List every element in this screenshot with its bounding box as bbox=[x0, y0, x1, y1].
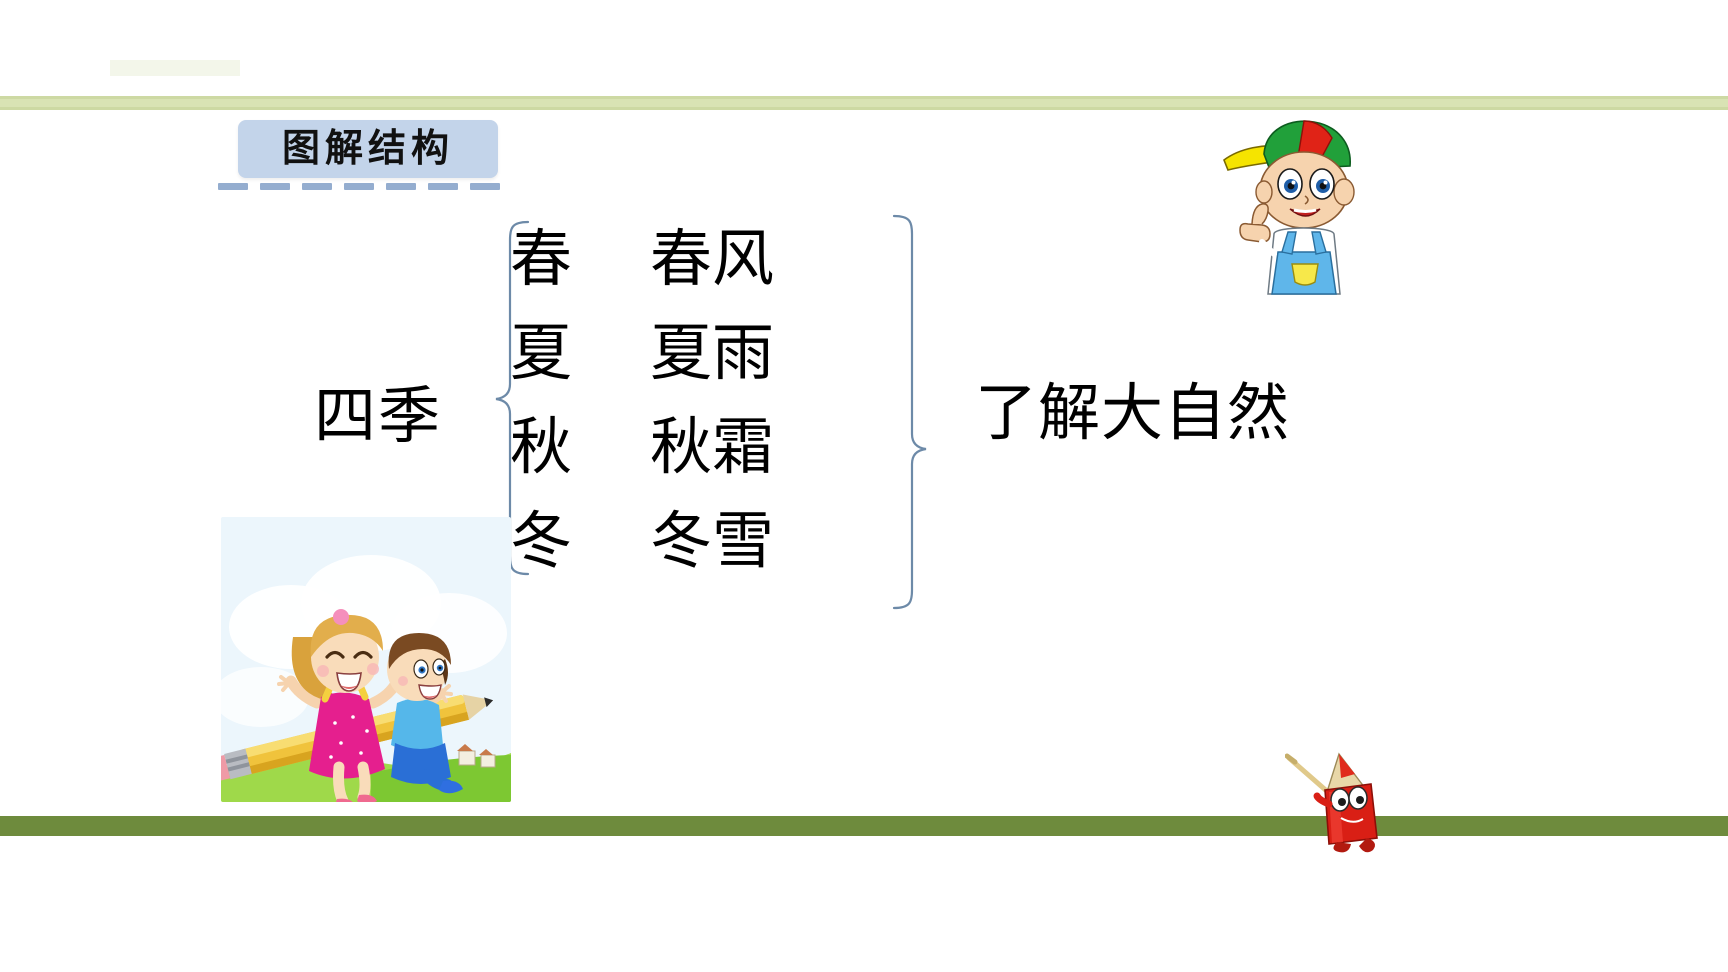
season-word: 冬雪 bbox=[650, 510, 774, 572]
season-row: 秋 秋霜 bbox=[510, 416, 880, 510]
slide-canvas: 图解结构 四季 春 春风 夏 夏雨 秋 秋霜 冬 冬雪 bbox=[0, 0, 1728, 972]
season-char: 夏 bbox=[510, 322, 650, 384]
dash-segment bbox=[470, 183, 500, 190]
season-word: 秋霜 bbox=[650, 416, 774, 478]
dash-segment bbox=[428, 183, 458, 190]
footer-bar-left bbox=[0, 816, 1421, 836]
season-row: 夏 夏雨 bbox=[510, 322, 880, 416]
dash-segment bbox=[344, 183, 374, 190]
season-char: 秋 bbox=[510, 416, 650, 478]
season-word: 夏雨 bbox=[650, 322, 774, 384]
diagram-conclusion-label: 了解大自然 bbox=[975, 382, 1290, 444]
top-left-ghost-block bbox=[110, 60, 240, 76]
season-word: 春风 bbox=[650, 228, 774, 290]
diagram-root-label: 四季 bbox=[314, 385, 442, 447]
top-decorative-band-inner bbox=[0, 99, 1728, 107]
season-list: 春 春风 夏 夏雨 秋 秋霜 冬 冬雪 bbox=[510, 228, 880, 604]
right-curly-bracket-icon bbox=[890, 212, 970, 612]
season-row: 春 春风 bbox=[510, 228, 880, 322]
season-row: 冬 冬雪 bbox=[510, 510, 880, 604]
footer-white-strip bbox=[0, 836, 1728, 972]
title-underline-dashes bbox=[218, 183, 523, 190]
dash-segment bbox=[386, 183, 416, 190]
title-badge: 图解结构 bbox=[238, 120, 498, 178]
season-char: 冬 bbox=[510, 510, 650, 572]
title-badge-label: 图解结构 bbox=[282, 130, 454, 168]
kids-riding-pencil-icon bbox=[221, 517, 511, 802]
season-char: 春 bbox=[510, 228, 650, 290]
dash-segment bbox=[218, 183, 248, 190]
red-pencil-mascot-icon bbox=[1285, 740, 1405, 860]
dash-segment bbox=[260, 183, 290, 190]
footer-bar-right bbox=[1421, 816, 1728, 836]
dash-segment bbox=[302, 183, 332, 190]
boy-thumbs-up-icon bbox=[1212, 112, 1382, 297]
